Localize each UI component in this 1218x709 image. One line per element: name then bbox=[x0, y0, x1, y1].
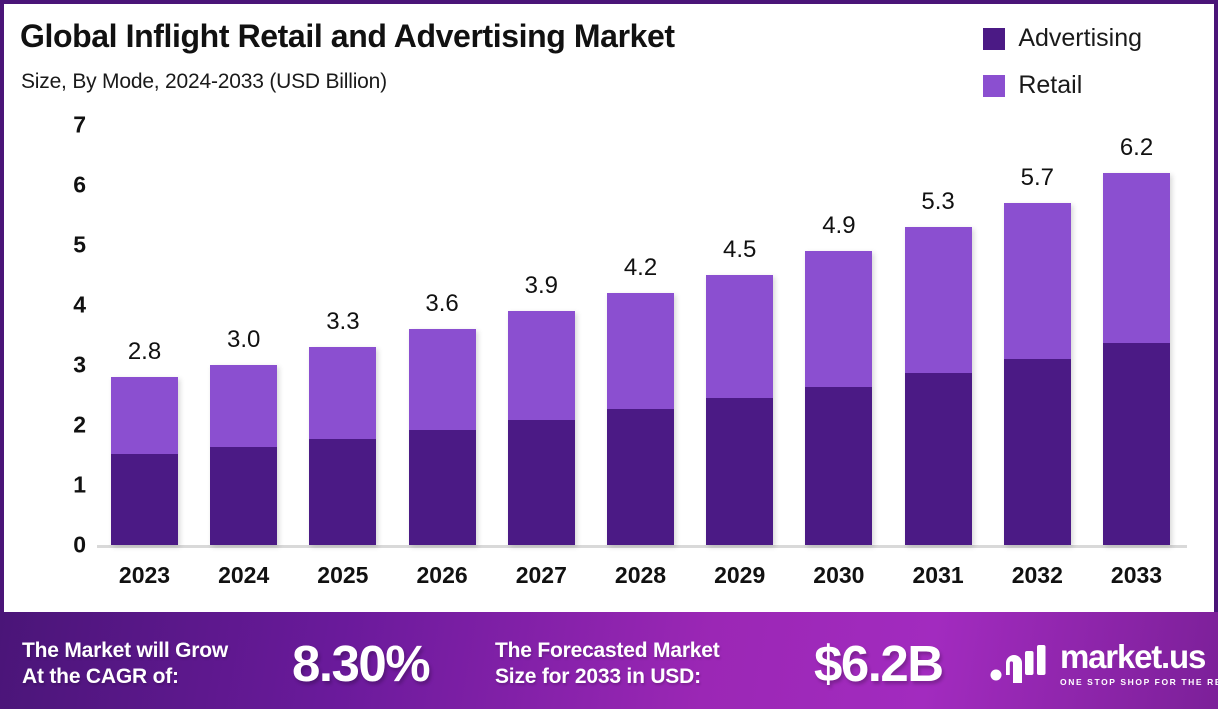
bar-segment-advertising[interactable] bbox=[607, 409, 674, 545]
footer-band: The Market will Grow At the CAGR of: 8.3… bbox=[0, 612, 1218, 709]
bar-segment-advertising[interactable] bbox=[1004, 359, 1071, 545]
bar-value-label: 5.7 bbox=[1021, 166, 1054, 190]
logo-tagline: ONE STOP SHOP FOR THE REPORTS bbox=[1060, 677, 1218, 687]
y-axis-tick: 1 bbox=[73, 474, 86, 497]
y-axis-tick: 2 bbox=[73, 414, 86, 437]
bar-value-label: 3.3 bbox=[326, 310, 359, 334]
x-axis-tick: 2025 bbox=[293, 564, 393, 587]
forecast-size-label: The Forecasted Market Size for 2033 in U… bbox=[495, 638, 720, 689]
y-axis-tick: 4 bbox=[73, 294, 86, 317]
forecast-size-value: $6.2B bbox=[814, 638, 943, 689]
legend-label: Advertising bbox=[1018, 26, 1142, 51]
bar-value-label: 3.6 bbox=[425, 292, 458, 316]
bar-segment-advertising[interactable] bbox=[111, 454, 178, 545]
bar-segment-retail[interactable] bbox=[805, 251, 872, 387]
x-axis-tick: 2029 bbox=[690, 564, 790, 587]
logo-wordmark: market.us bbox=[1060, 640, 1218, 673]
legend-label: Retail bbox=[1018, 73, 1082, 98]
bar-value-label: 4.2 bbox=[624, 256, 657, 280]
x-axis-tick: 2030 bbox=[789, 564, 889, 587]
bar-value-label: 5.3 bbox=[921, 190, 954, 214]
cagr-label-line2: At the CAGR of: bbox=[22, 664, 228, 690]
y-axis-tick: 6 bbox=[73, 174, 86, 197]
forecast-size-label-line1: The Forecasted Market bbox=[495, 638, 720, 664]
bar-value-label: 4.9 bbox=[822, 214, 855, 238]
bar-segment-advertising[interactable] bbox=[905, 373, 972, 545]
bar-segment-retail[interactable] bbox=[607, 293, 674, 409]
logo-text: market.us ONE STOP SHOP FOR THE REPORTS bbox=[1060, 640, 1218, 687]
bar-segment-advertising[interactable] bbox=[508, 420, 575, 545]
y-axis-labels: 01234567 bbox=[0, 125, 86, 545]
chart-plot-area: 2.83.03.33.63.94.24.54.95.35.76.2 bbox=[97, 125, 1187, 545]
cagr-value: 8.30% bbox=[292, 638, 429, 689]
legend-swatch-icon bbox=[983, 28, 1005, 50]
bar-segment-retail[interactable] bbox=[905, 227, 972, 373]
bar-segment-advertising[interactable] bbox=[1103, 343, 1170, 545]
infographic-root: Global Inflight Retail and Advertising M… bbox=[0, 0, 1218, 709]
forecast-size-label-line2: Size for 2033 in USD: bbox=[495, 664, 720, 690]
legend-item-retail[interactable]: Retail bbox=[983, 73, 1142, 98]
y-axis-tick: 7 bbox=[73, 114, 86, 137]
legend-swatch-icon bbox=[983, 75, 1005, 97]
chart-legend: AdvertisingRetail bbox=[983, 26, 1142, 98]
bar-segment-retail[interactable] bbox=[210, 365, 277, 447]
x-axis-line bbox=[97, 545, 1187, 548]
y-axis-tick: 5 bbox=[73, 234, 86, 257]
x-axis-tick: 2026 bbox=[392, 564, 492, 587]
x-axis-tick: 2033 bbox=[1087, 564, 1187, 587]
x-axis-tick: 2028 bbox=[591, 564, 691, 587]
x-axis-tick: 2031 bbox=[888, 564, 988, 587]
x-axis-tick: 2023 bbox=[95, 564, 195, 587]
x-axis-tick: 2032 bbox=[987, 564, 1087, 587]
bar-segment-advertising[interactable] bbox=[409, 430, 476, 545]
y-axis-tick: 3 bbox=[73, 354, 86, 377]
page-subtitle: Size, By Mode, 2024-2033 (USD Billion) bbox=[21, 70, 387, 94]
bar-segment-advertising[interactable] bbox=[309, 439, 376, 545]
x-axis-tick: 2024 bbox=[194, 564, 294, 587]
bar-segment-advertising[interactable] bbox=[210, 447, 277, 545]
bar-segment-retail[interactable] bbox=[309, 347, 376, 439]
bar-value-label: 6.2 bbox=[1120, 136, 1153, 160]
bar-value-label: 3.0 bbox=[227, 328, 260, 352]
bar-chart-logo-icon bbox=[990, 637, 1050, 690]
cagr-label: The Market will Grow At the CAGR of: bbox=[22, 638, 228, 689]
bar-segment-retail[interactable] bbox=[111, 377, 178, 454]
bar-segment-retail[interactable] bbox=[706, 275, 773, 398]
cagr-label-line1: The Market will Grow bbox=[22, 638, 228, 664]
bar-value-label: 4.5 bbox=[723, 238, 756, 262]
y-axis-tick: 0 bbox=[73, 534, 86, 557]
market-us-logo[interactable]: market.us ONE STOP SHOP FOR THE REPORTS bbox=[990, 637, 1218, 690]
bar-segment-retail[interactable] bbox=[1103, 173, 1170, 343]
bar-segment-advertising[interactable] bbox=[805, 387, 872, 545]
legend-item-advertising[interactable]: Advertising bbox=[983, 26, 1142, 51]
bar-segment-retail[interactable] bbox=[508, 311, 575, 420]
bar-segment-retail[interactable] bbox=[409, 329, 476, 430]
page-title: Global Inflight Retail and Advertising M… bbox=[20, 18, 675, 55]
bar-value-label: 2.8 bbox=[128, 340, 161, 364]
bar-segment-retail[interactable] bbox=[1004, 203, 1071, 359]
bar-value-label: 3.9 bbox=[525, 274, 558, 298]
x-axis-tick: 2027 bbox=[491, 564, 591, 587]
bar-segment-advertising[interactable] bbox=[706, 398, 773, 545]
